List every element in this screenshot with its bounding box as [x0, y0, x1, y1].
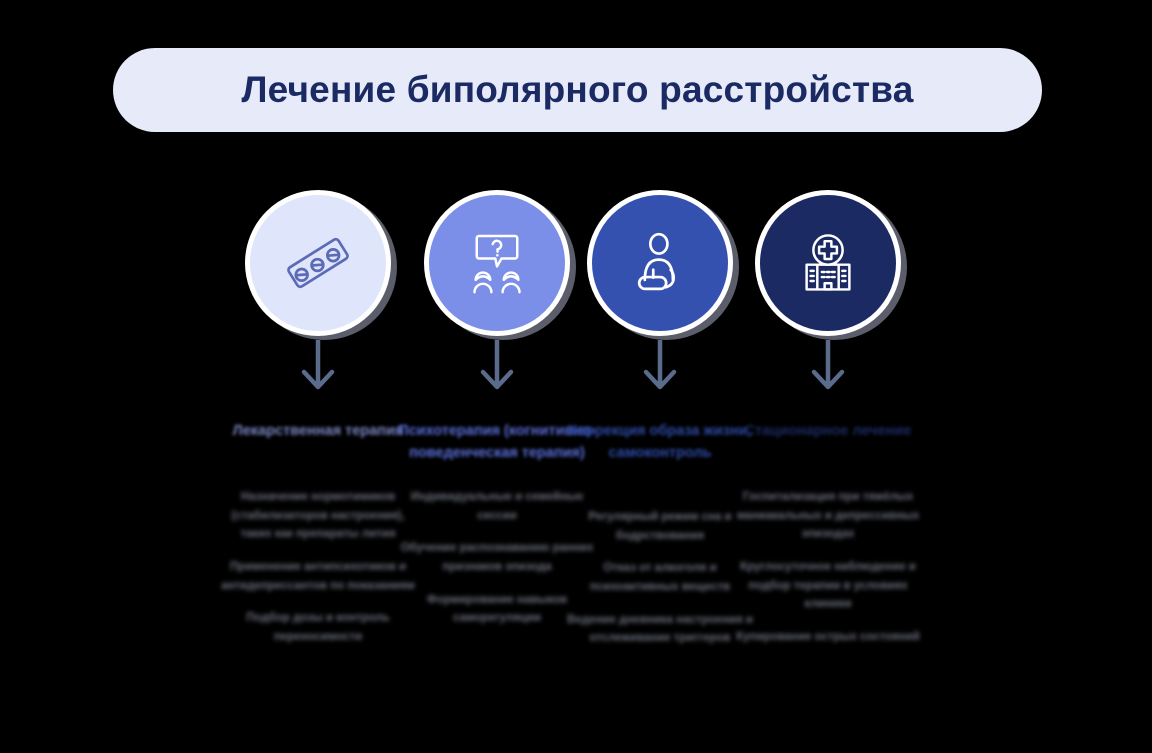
- body-paragraph: Подбор дозы и контроль переносимости: [218, 609, 418, 646]
- body-paragraph: Назначение нормотимиков (стабилизаторов …: [218, 488, 418, 544]
- two-people-question-bubble-icon: [461, 227, 533, 299]
- body-paragraph: Применение антипсихотиков и антидепресса…: [218, 558, 418, 595]
- meditating-person-icon: [624, 227, 696, 299]
- circle-psychotherapy[interactable]: [424, 190, 570, 336]
- body-paragraph: Купирование острых состояний: [728, 628, 928, 647]
- blister-pack-pills-icon: [282, 227, 354, 299]
- body-paragraph: Госпитализация при тяжёлых маниакальных …: [728, 488, 928, 544]
- circle-lifestyle[interactable]: [587, 190, 733, 336]
- down-arrow-icon: [798, 340, 858, 398]
- page-title: Лечение биполярного расстройства: [241, 69, 913, 111]
- column-heading-inpatient: Стационарное лечение: [728, 420, 928, 442]
- down-arrow-icon: [467, 340, 527, 398]
- column-body-inpatient: Госпитализация при тяжёлых маниакальных …: [728, 488, 928, 660]
- column-heading-medication: Лекарственная терапия: [218, 420, 418, 442]
- treatment-column-inpatient: Стационарное лечение Госпитализация при …: [728, 180, 928, 350]
- down-arrow-icon: [288, 340, 348, 398]
- icon-circle-inpatient[interactable]: [728, 180, 928, 350]
- title-banner: Лечение биполярного расстройства: [113, 48, 1042, 132]
- icon-circle-medication[interactable]: [218, 180, 418, 350]
- hospital-cross-icon: [792, 227, 864, 299]
- column-body-medication: Назначение нормотимиков (стабилизаторов …: [218, 488, 418, 660]
- treatment-columns: Лекарственная терапия Назначение нормоти…: [0, 180, 1152, 753]
- treatment-column-medication: Лекарственная терапия Назначение нормоти…: [218, 180, 418, 350]
- down-arrow-icon: [630, 340, 690, 398]
- body-paragraph: Круглосуточное наблюдение и подбор терап…: [728, 558, 928, 614]
- circle-medication[interactable]: [245, 190, 391, 336]
- circle-inpatient[interactable]: [755, 190, 901, 336]
